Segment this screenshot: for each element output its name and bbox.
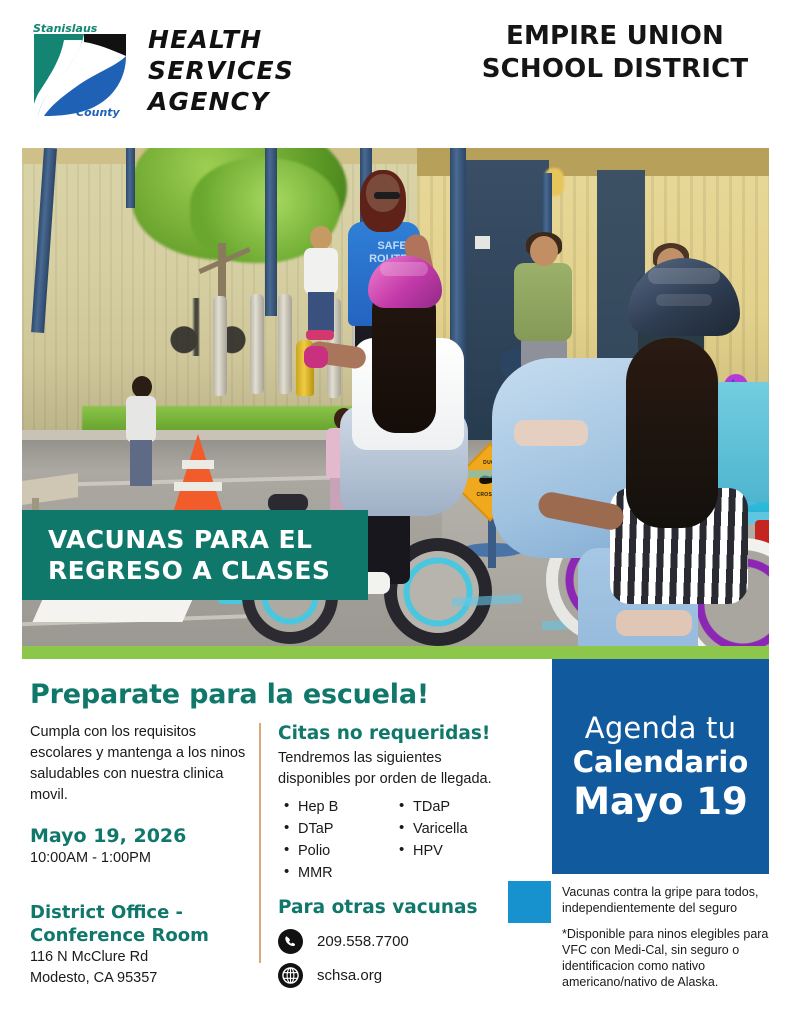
bg-child-1-head (132, 376, 152, 398)
agency-wordmark: HEALTH SERVICES AGENCY (148, 24, 308, 117)
right-girl-sandal-front (514, 420, 588, 446)
bollard-2 (250, 294, 264, 394)
bg-adult-green-head (530, 236, 558, 266)
bg-child-1-body (126, 396, 156, 442)
traffic-cone-stripe-1 (182, 460, 214, 469)
vaccine-list-column-2: TDaP Varicella HPV (393, 796, 508, 884)
event-time: 10:00AM - 1:00PM (30, 848, 246, 869)
hero-banner: VACUNAS PARA EL REGRESO A CLASES (22, 510, 368, 600)
bg-child-white-legs (308, 292, 334, 332)
left-info-column: Cumpla con los requisitos escolares y ma… (30, 722, 246, 989)
footnotes-block: Vacunas contra la gripe para todos, inde… (562, 884, 780, 990)
right-girl-hair (626, 338, 718, 528)
schedule-line3: Mayo 19 (573, 781, 748, 823)
bollard-1 (213, 296, 227, 396)
globe-icon (278, 963, 303, 988)
traffic-cone-icon (172, 434, 224, 516)
right-girl-helmet-vent-2 (656, 294, 712, 306)
website-url: schsa.org (317, 967, 382, 984)
hero-banner-line1: VACUNAS PARA EL (48, 524, 330, 555)
left-girl-helmet-vent (380, 262, 428, 276)
middle-info-column: Citas no requeridas! Tendremos las sigui… (278, 722, 508, 988)
left-girl-handgrip (304, 346, 328, 368)
footnote-vfc: *Disponible para ninos elegibles para VF… (562, 926, 780, 990)
green-divider-bar (22, 646, 769, 659)
hero-banner-text: VACUNAS PARA EL REGRESO A CLASES (22, 524, 330, 586)
bike-rack (162, 298, 262, 356)
address-line2: Modesto, CA 95357 (30, 968, 246, 989)
website-row[interactable]: schsa.org (278, 963, 508, 988)
phone-row[interactable]: 209.558.7700 (278, 929, 508, 954)
location-line1: District Office - (30, 901, 246, 924)
bollard-3 (278, 294, 292, 394)
footnote-flu: Vacunas contra la gripe para todos, inde… (562, 884, 780, 916)
list-item: Polio (278, 840, 393, 862)
bg-adult-green-body (514, 263, 572, 341)
instructor-sunglasses (374, 192, 400, 199)
traffic-cone-stripe-2 (174, 482, 222, 491)
district-title: EMPIRE UNION SCHOOL DISTRICT (455, 20, 775, 86)
column-divider (259, 723, 261, 963)
hero-photo-scene: SAFE ROUTES DUCK CROSSING (22, 148, 769, 646)
bg-child-1-legs (130, 440, 152, 486)
phone-number: 209.558.7700 (317, 933, 409, 950)
phone-icon (278, 929, 303, 954)
bg-child-white-head (310, 226, 332, 250)
flyer-header: Stanislaus County HEALTH SERVICES AGENCY… (0, 0, 791, 140)
light-blue-accent-square (508, 881, 551, 923)
bg-child-white-body (304, 248, 338, 294)
hero-photo: SAFE ROUTES DUCK CROSSING (22, 148, 769, 646)
event-date: Mayo 19, 2026 (30, 824, 246, 848)
walkins-subtext: Tendremos las siguientes disponibles por… (278, 748, 508, 790)
location-line2: Conference Room (30, 924, 246, 947)
stanislaus-county-logo-icon: Stanislaus County (22, 20, 140, 120)
right-girl-helmet-vent-1 (648, 268, 720, 284)
contact-heading: Para otras vacunas (278, 896, 508, 920)
hero-banner-line2: REGRESO A CLASES (48, 555, 330, 586)
agency-word-health: HEALTH (148, 24, 308, 55)
walkins-heading: Citas no requeridas! (278, 722, 508, 746)
steel-post-2 (126, 148, 135, 208)
event-address: 116 N McClure Rd Modesto, CA 95357 (30, 947, 246, 989)
district-title-line2: SCHOOL DISTRICT (455, 53, 775, 86)
steel-post-3 (265, 148, 277, 316)
list-item: Varicella (393, 818, 508, 840)
schedule-line2: Calendario (573, 745, 749, 779)
list-item: TDaP (393, 796, 508, 818)
schedule-line1: Agenda tu (585, 711, 736, 745)
logo-word-stanislaus: Stanislaus (33, 22, 98, 35)
logo-word-county: County (76, 106, 121, 119)
main-heading: Preparate para la escuela! (30, 678, 470, 711)
list-item: MMR (278, 862, 393, 884)
list-item: DTaP (278, 818, 393, 840)
vaccine-list: Hep B DTaP Polio MMR TDaP Varicella HPV (278, 796, 508, 884)
address-line1: 116 N McClure Rd (30, 947, 246, 968)
event-location: District Office - Conference Room (30, 901, 246, 947)
flyer-page: Stanislaus County HEALTH SERVICES AGENCY… (0, 0, 791, 1024)
intro-paragraph: Cumpla con los requisitos escolares y ma… (30, 722, 246, 806)
district-title-line1: EMPIRE UNION (455, 20, 775, 53)
agency-word-agency: AGENCY (148, 86, 308, 117)
bg-child-white-shoes (306, 330, 334, 340)
right-girl-sandal-back (616, 610, 692, 636)
door-placard (475, 236, 490, 249)
agency-logo-block: Stanislaus County HEALTH SERVICES AGENCY (18, 18, 288, 123)
agency-word-services: SERVICES (148, 55, 308, 86)
list-item: Hep B (278, 796, 393, 818)
vaccine-list-column-1: Hep B DTaP Polio MMR (278, 796, 393, 884)
list-item: HPV (393, 840, 508, 862)
schedule-callout-panel: Agenda tu Calendario Mayo 19 (552, 659, 769, 874)
